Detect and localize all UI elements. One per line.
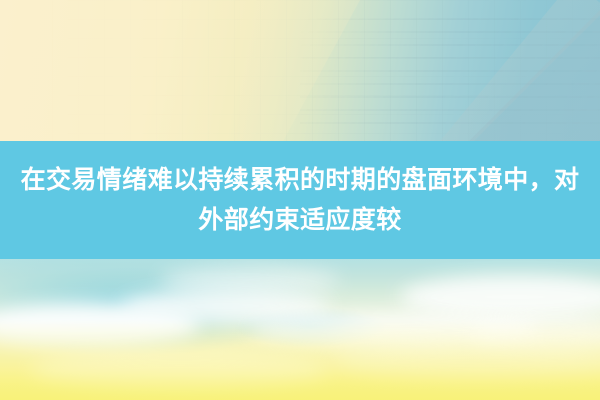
headline-line-2: 外部约束适应度较 xyxy=(198,200,401,240)
sunset-glow-gradient xyxy=(0,320,600,400)
scanline-texture-overlay xyxy=(300,18,600,128)
abstract-geometric-header xyxy=(0,0,600,141)
banner-graphic: 在交易情绪难以持续累积的时期的盘面环境中，对 外部约束适应度较 xyxy=(0,0,600,400)
sky-photo-footer xyxy=(0,259,600,400)
headline-banner: 在交易情绪难以持续累积的时期的盘面环境中，对 外部约束适应度较 xyxy=(0,141,600,259)
headline-line-1: 在交易情绪难以持续累积的时期的盘面环境中，对 xyxy=(21,160,580,200)
